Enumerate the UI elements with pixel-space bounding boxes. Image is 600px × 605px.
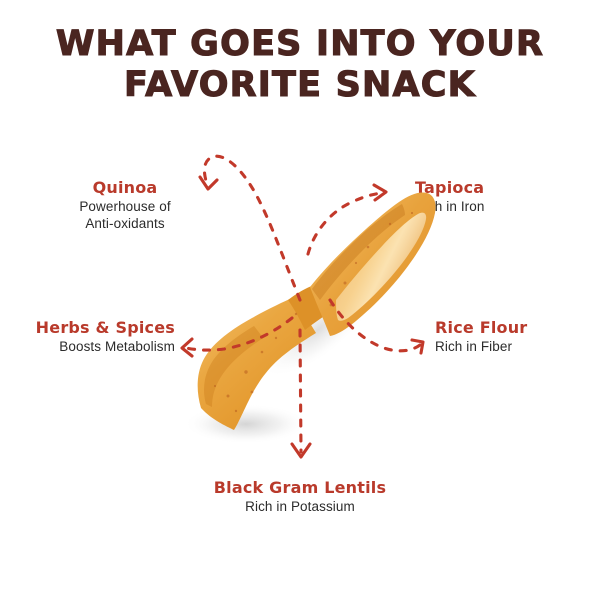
fried-snack-chip-icon: [0, 0, 600, 600]
infographic-poster: WHAT GOES INTO YOUR FAVORITE SNACK: [0, 0, 600, 600]
snack-shadow-lower: [184, 404, 308, 444]
snack-illustration-layer: [0, 0, 600, 600]
